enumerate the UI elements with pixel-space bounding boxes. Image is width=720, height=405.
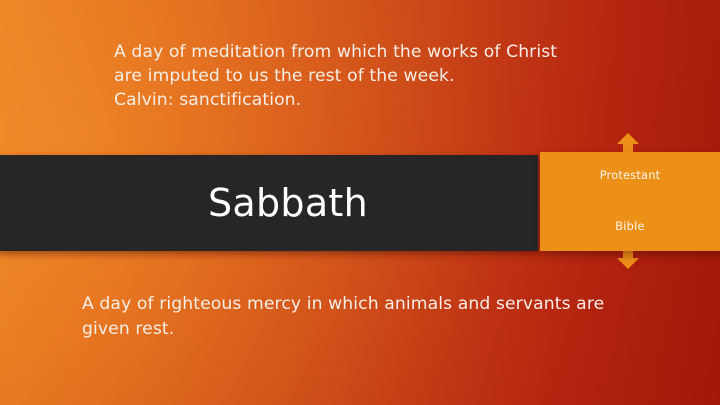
side-panel-bottom-label: Bible — [540, 219, 720, 233]
title-band: Sabbath — [0, 155, 538, 251]
top-paragraph-line-2: are imputed to us the rest of the week. — [114, 64, 614, 88]
top-paragraph-line-1: A day of meditation from which the works… — [114, 40, 614, 64]
bottom-paragraph: A day of righteous mercy in which animal… — [82, 292, 662, 342]
bottom-paragraph-line-2: given rest. — [82, 317, 662, 342]
top-paragraph-line-3: Calvin: sanctification. — [114, 88, 614, 112]
side-panel: Protestant Bible — [540, 152, 720, 251]
bottom-paragraph-line-1: A day of righteous mercy in which animal… — [82, 292, 662, 317]
top-paragraph: A day of meditation from which the works… — [114, 40, 614, 112]
side-panel-top-label: Protestant — [540, 168, 720, 182]
slide-title: Sabbath — [0, 155, 580, 251]
presentation-slide: A day of meditation from which the works… — [0, 0, 720, 405]
